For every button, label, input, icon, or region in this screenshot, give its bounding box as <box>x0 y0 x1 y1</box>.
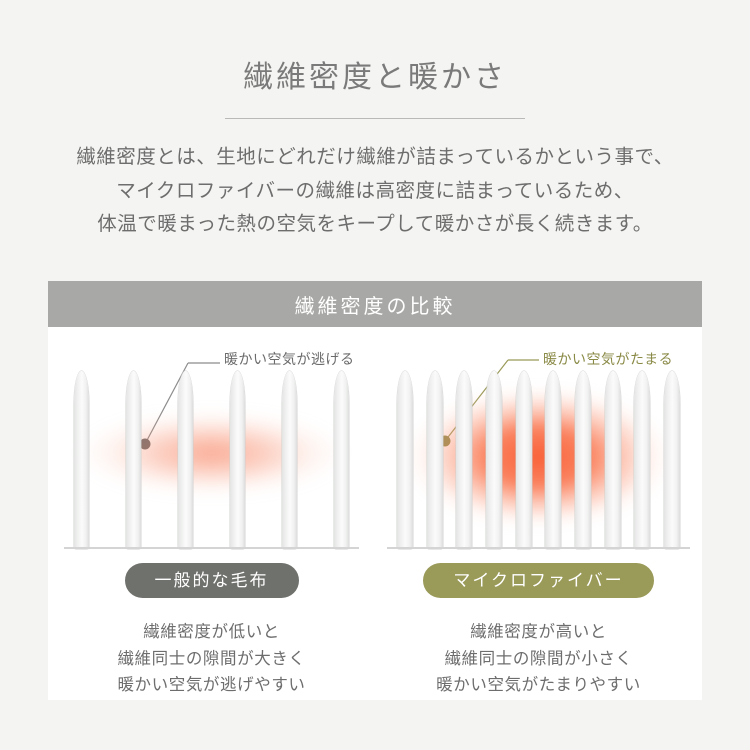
lead-copy-line-2: マイクロファイバーの繊維は高密度に詰まっているため、 <box>8 175 742 209</box>
fiber-group-sparse <box>48 371 375 549</box>
column-microfiber: 暖かい空気がたまる <box>375 327 702 700</box>
fiber <box>545 371 561 549</box>
fiber <box>486 371 502 549</box>
fiber <box>178 371 193 549</box>
lead-copy-line-3: 体温で暖まった熱の空気をキープして暖かさが長く続きます。 <box>8 208 742 242</box>
lead-copy: 繊維密度とは、生地にどれだけ繊維が詰まっているかという事で、 マイクロファイバー… <box>0 141 750 242</box>
fiber <box>397 371 413 549</box>
label-pill-microfiber: マイクロファイバー <box>423 563 653 598</box>
fiber <box>605 371 621 549</box>
fiber <box>334 371 349 549</box>
pill-row-right: マイクロファイバー <box>375 563 702 598</box>
fiber-group-dense <box>375 371 702 549</box>
fiber <box>282 371 297 549</box>
caption-general-blanket: 繊維密度が低いと 繊維同士の隙間が大きく 暖かい空気が逃げやすい <box>48 619 375 699</box>
caption-microfiber: 繊維密度が高いと 繊維同士の隙間が小さく 暖かい空気がたまりやすい <box>375 619 702 699</box>
fiber-diagram-dense <box>375 371 702 549</box>
fiber <box>664 371 680 549</box>
fabric-baseline <box>64 547 359 549</box>
pill-row-left: 一般的な毛布 <box>48 563 375 598</box>
fabric-baseline <box>387 547 690 549</box>
callout-label-air-retained: 暖かい空気がたまる <box>543 349 673 369</box>
fiber <box>126 371 141 549</box>
comparison-panel: 繊維密度の比較 暖かい空気が逃げる <box>48 281 702 700</box>
title-divider <box>225 118 525 119</box>
fiber <box>634 371 650 549</box>
caption-line-3: 暖かい空気が逃げやすい <box>48 672 375 699</box>
page-title: 繊維密度と暖かさ <box>0 0 750 96</box>
column-general-blanket: 暖かい空気が逃げる 一般的な毛布 <box>48 327 375 700</box>
panel-header-title: 繊維密度の比較 <box>295 290 456 319</box>
fiber <box>230 371 245 549</box>
fiber-diagram-sparse <box>48 371 375 549</box>
caption-line-1: 繊維密度が低いと <box>48 619 375 646</box>
comparison-columns: 暖かい空気が逃げる 一般的な毛布 <box>48 327 702 700</box>
caption-line-3: 暖かい空気がたまりやすい <box>375 672 702 699</box>
lead-copy-line-1: 繊維密度とは、生地にどれだけ繊維が詰まっているかという事で、 <box>8 141 742 175</box>
caption-line-2: 繊維同士の隙間が小さく <box>375 646 702 673</box>
fiber <box>74 371 89 549</box>
fiber <box>427 371 443 549</box>
panel-header: 繊維密度の比較 <box>48 281 702 327</box>
fiber <box>575 371 591 549</box>
callout-label-air-escapes: 暖かい空気が逃げる <box>224 349 355 369</box>
label-pill-general-blanket: 一般的な毛布 <box>125 563 299 598</box>
caption-line-1: 繊維密度が高いと <box>375 619 702 646</box>
caption-line-2: 繊維同士の隙間が大きく <box>48 646 375 673</box>
fiber <box>516 371 532 549</box>
fiber <box>456 371 472 549</box>
